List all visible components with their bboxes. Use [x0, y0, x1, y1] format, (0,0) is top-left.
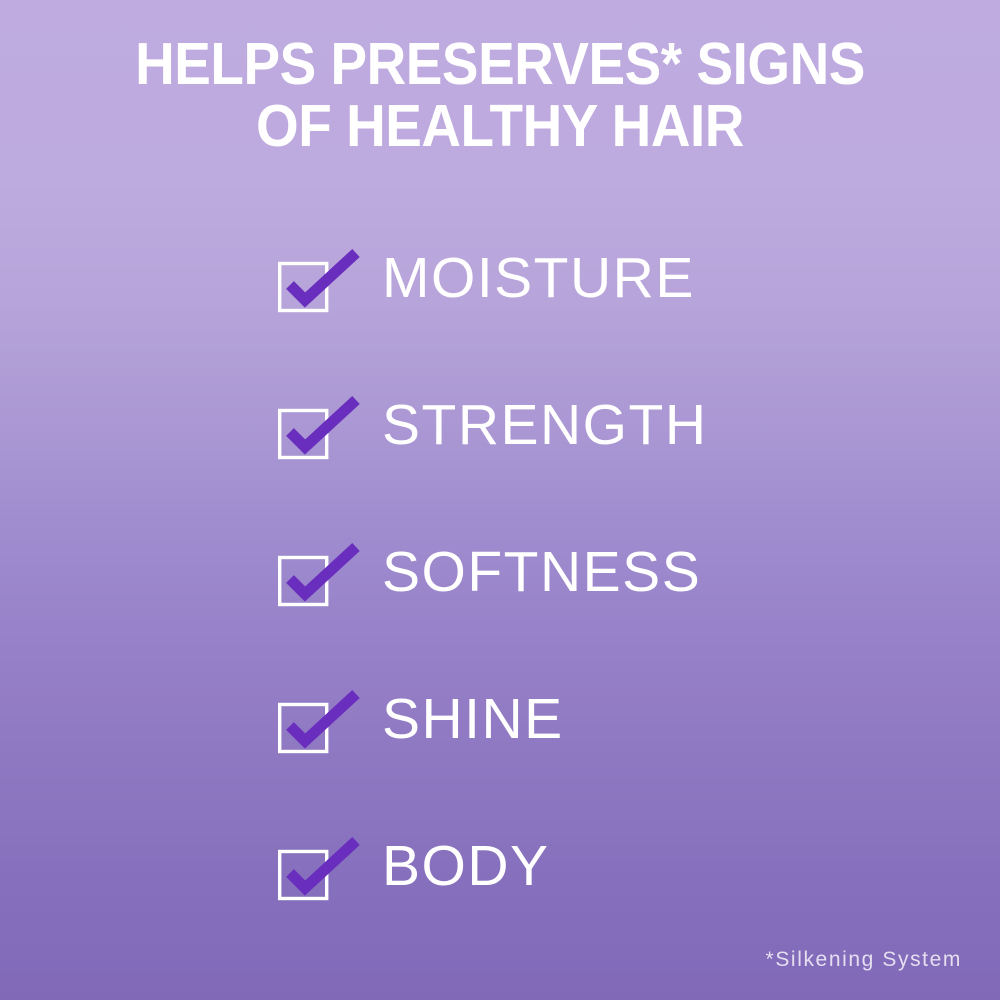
list-item-label: BODY: [382, 834, 550, 898]
list-item-label: SHINE: [382, 687, 564, 751]
list-item: MOISTURE: [278, 250, 938, 397]
list-item: STRENGTH: [278, 397, 938, 544]
list-item: SHINE: [278, 691, 938, 838]
checked-checkbox-icon: [278, 691, 362, 755]
checked-checkbox-icon: [278, 397, 362, 461]
promo-poster: HELPS PRESERVES* SIGNS OF HEALTHY HAIR M…: [0, 0, 1000, 1000]
list-item: SOFTNESS: [278, 544, 938, 691]
footnote-disclaimer: *Silkening System: [766, 948, 962, 972]
page-title: HELPS PRESERVES* SIGNS OF HEALTHY HAIR: [35, 33, 965, 157]
list-item-label: MOISTURE: [382, 246, 695, 310]
benefits-checklist: MOISTURE STRENGTH SOFTNESS: [278, 250, 938, 985]
list-item-label: SOFTNESS: [382, 540, 701, 604]
list-item-label: STRENGTH: [382, 393, 708, 457]
checked-checkbox-icon: [278, 250, 362, 314]
checked-checkbox-icon: [278, 544, 362, 608]
checked-checkbox-icon: [278, 838, 362, 902]
